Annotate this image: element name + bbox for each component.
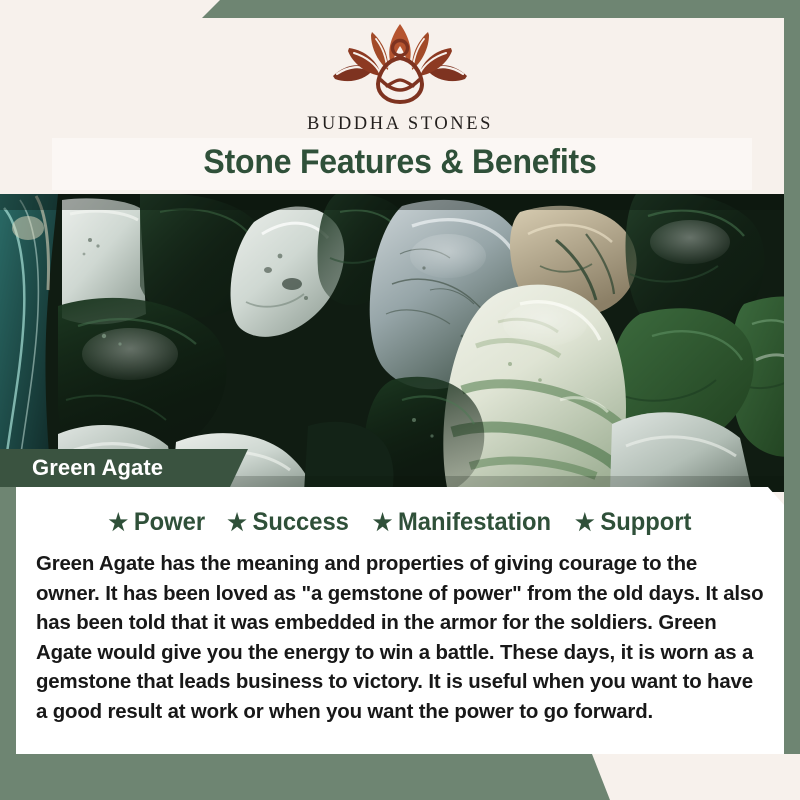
benefits-list: ★ Power ★ Success ★ Manifestation ★ Supp… <box>16 508 784 537</box>
content-panel: ★ Power ★ Success ★ Manifestation ★ Supp… <box>16 487 784 755</box>
benefit-item-manifestation: ★ Manifestation <box>372 508 550 537</box>
page-title: Stone Features & Benefits <box>24 139 776 185</box>
green-agate-tumbled-stones-photo <box>0 194 800 492</box>
benefit-item-power: ★ Power <box>109 508 206 537</box>
header-section: BUDDHA STONES Stone Features & Benefits <box>0 0 800 196</box>
star-icon: ★ <box>227 511 247 534</box>
brand-logo: BUDDHA STONES <box>0 22 800 135</box>
stone-description: Green Agate has the meaning and properti… <box>16 550 784 727</box>
lotus-meditation-figure-icon <box>325 22 475 110</box>
frame-right-bar <box>784 0 800 782</box>
star-icon: ★ <box>575 511 595 534</box>
brand-name: BUDDHA STONES <box>307 114 493 135</box>
star-icon: ★ <box>109 511 129 534</box>
benefit-label-power: Power <box>134 508 205 537</box>
benefit-item-support: ★ Support <box>575 508 691 537</box>
star-icon: ★ <box>372 511 392 534</box>
benefit-label-support: Support <box>600 508 691 537</box>
benefit-item-success: ★ Success <box>227 508 349 537</box>
product-info-card: BUDDHA STONES Stone Features & Benefits <box>0 0 800 800</box>
frame-left-bar <box>0 486 16 755</box>
stone-name-banner: Green Agate <box>0 449 248 487</box>
benefit-label-success: Success <box>252 508 348 537</box>
benefit-label-manifestation: Manifestation <box>398 508 551 537</box>
stone-name-label: Green Agate <box>32 455 163 481</box>
